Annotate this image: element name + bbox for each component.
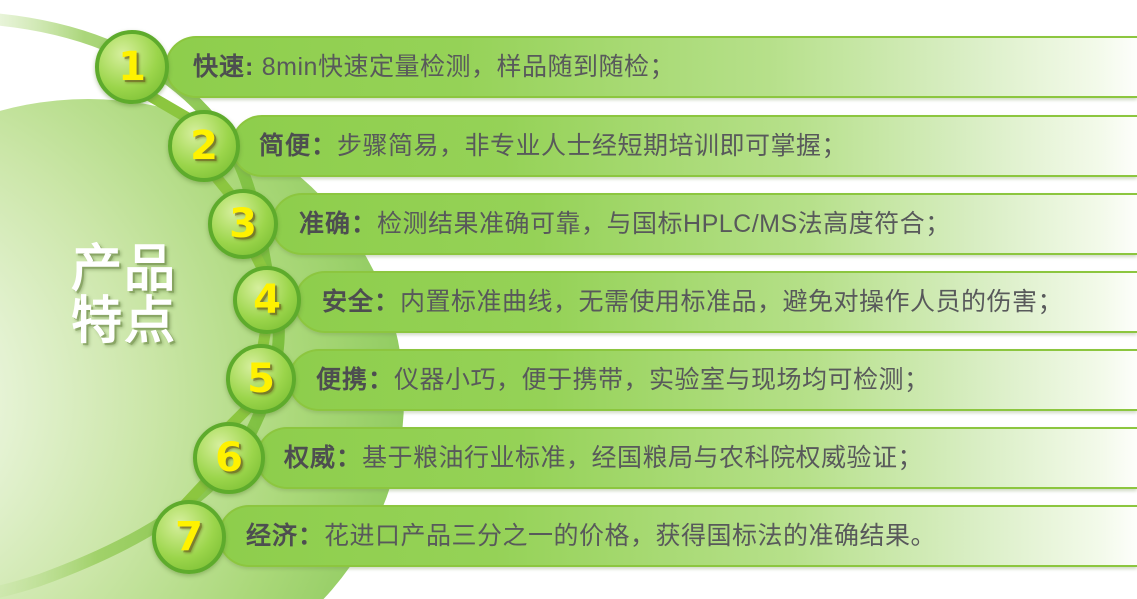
feature-text: 安全：内置标准曲线，无需使用标准品，避免对操作人员的伤害； <box>296 290 1063 315</box>
feature-row: 简便：步骤简易，非专业人士经短期培训即可掌握； <box>205 115 1137 177</box>
feature-text: 经济：花进口产品三分之一的价格，获得国标法的准确结果。 <box>220 524 936 549</box>
feature-number: 2 <box>190 126 218 166</box>
feature-number-badge[interactable]: 1 <box>95 30 169 104</box>
feature-text: 权威：基于粮油行业标准，经国粮局与农科院权威验证； <box>258 446 923 471</box>
feature-row: 便携：仪器小巧，便于携带，实验室与现场均可检测； <box>262 349 1137 411</box>
feature-body: 8min快速定量检测，样品随到随检； <box>254 53 675 81</box>
feature-body: 基于粮油行业标准，经国粮局与农科院权威验证； <box>362 444 923 472</box>
feature-label: 准确： <box>299 210 377 238</box>
feature-pill[interactable]: 安全：内置标准曲线，无需使用标准品，避免对操作人员的伤害； <box>294 271 1137 333</box>
feature-pill[interactable]: 经济：花进口产品三分之一的价格，获得国标法的准确结果。 <box>218 505 1137 567</box>
feature-number: 6 <box>215 438 243 478</box>
feature-pill[interactable]: 准确：检测结果准确可靠，与国标HPLC/MS法高度符合； <box>271 193 1137 255</box>
feature-label: 安全： <box>322 288 400 316</box>
feature-body: 仪器小巧，便于携带，实验室与现场均可检测； <box>394 366 930 394</box>
feature-label: 快速: <box>193 53 254 81</box>
feature-body: 内置标准曲线，无需使用标准品，避免对操作人员的伤害； <box>400 288 1063 316</box>
feature-number-badge[interactable]: 6 <box>193 422 265 494</box>
feature-row: 经济：花进口产品三分之一的价格，获得国标法的准确结果。 <box>192 505 1137 567</box>
page-title: 产品 特点 <box>40 243 208 347</box>
feature-row: 安全：内置标准曲线，无需使用标准品，避免对操作人员的伤害； <box>268 271 1137 333</box>
feature-text: 简便：步骤简易，非专业人士经短期培训即可掌握； <box>233 134 847 159</box>
feature-text: 准确：检测结果准确可靠，与国标HPLC/MS法高度符合； <box>273 212 951 237</box>
feature-label: 便携： <box>316 366 394 394</box>
feature-number-badge[interactable]: 2 <box>168 110 240 182</box>
feature-text: 快速: 8min快速定量检测，样品随到随检； <box>167 55 675 80</box>
feature-number-badge[interactable]: 7 <box>152 500 226 574</box>
feature-body: 花进口产品三分之一的价格，获得国标法的准确结果。 <box>324 522 936 550</box>
feature-text: 便携：仪器小巧，便于携带，实验室与现场均可检测； <box>290 368 930 393</box>
feature-number-badge[interactable]: 4 <box>233 266 301 334</box>
feature-number-badge[interactable]: 3 <box>208 189 278 259</box>
feature-number-badge[interactable]: 5 <box>226 344 296 414</box>
feature-row: 准确：检测结果准确可靠，与国标HPLC/MS法高度符合； <box>245 193 1137 255</box>
feature-number: 7 <box>175 517 203 557</box>
feature-pill[interactable]: 权威：基于粮油行业标准，经国粮局与农科院权威验证； <box>256 427 1137 489</box>
feature-body: 检测结果准确可靠，与国标HPLC/MS法高度符合； <box>377 210 951 238</box>
page-title-line-2: 特点 <box>40 295 208 347</box>
feature-label: 权威： <box>284 444 362 472</box>
feature-row: 快速: 8min快速定量检测，样品随到随检； <box>137 36 1137 98</box>
page-title-line-1: 产品 <box>40 243 208 295</box>
feature-label: 经济： <box>246 522 324 550</box>
feature-label: 简便： <box>259 132 337 160</box>
feature-pill[interactable]: 快速: 8min快速定量检测，样品随到随检； <box>165 36 1137 98</box>
feature-row: 权威：基于粮油行业标准，经国粮局与农科院权威验证； <box>230 427 1137 489</box>
feature-number: 1 <box>118 47 146 87</box>
feature-pill[interactable]: 便携：仪器小巧，便于携带，实验室与现场均可检测； <box>288 349 1137 411</box>
feature-number: 4 <box>253 280 281 320</box>
feature-number: 3 <box>229 204 257 244</box>
feature-body: 步骤简易，非专业人士经短期培训即可掌握； <box>337 132 847 160</box>
infographic-canvas: 产品 特点 快速: 8min快速定量检测，样品随到随检； 1 简便：步骤简易，非… <box>0 0 1137 599</box>
feature-number: 5 <box>247 359 275 399</box>
feature-pill[interactable]: 简便：步骤简易，非专业人士经短期培训即可掌握； <box>231 115 1137 177</box>
